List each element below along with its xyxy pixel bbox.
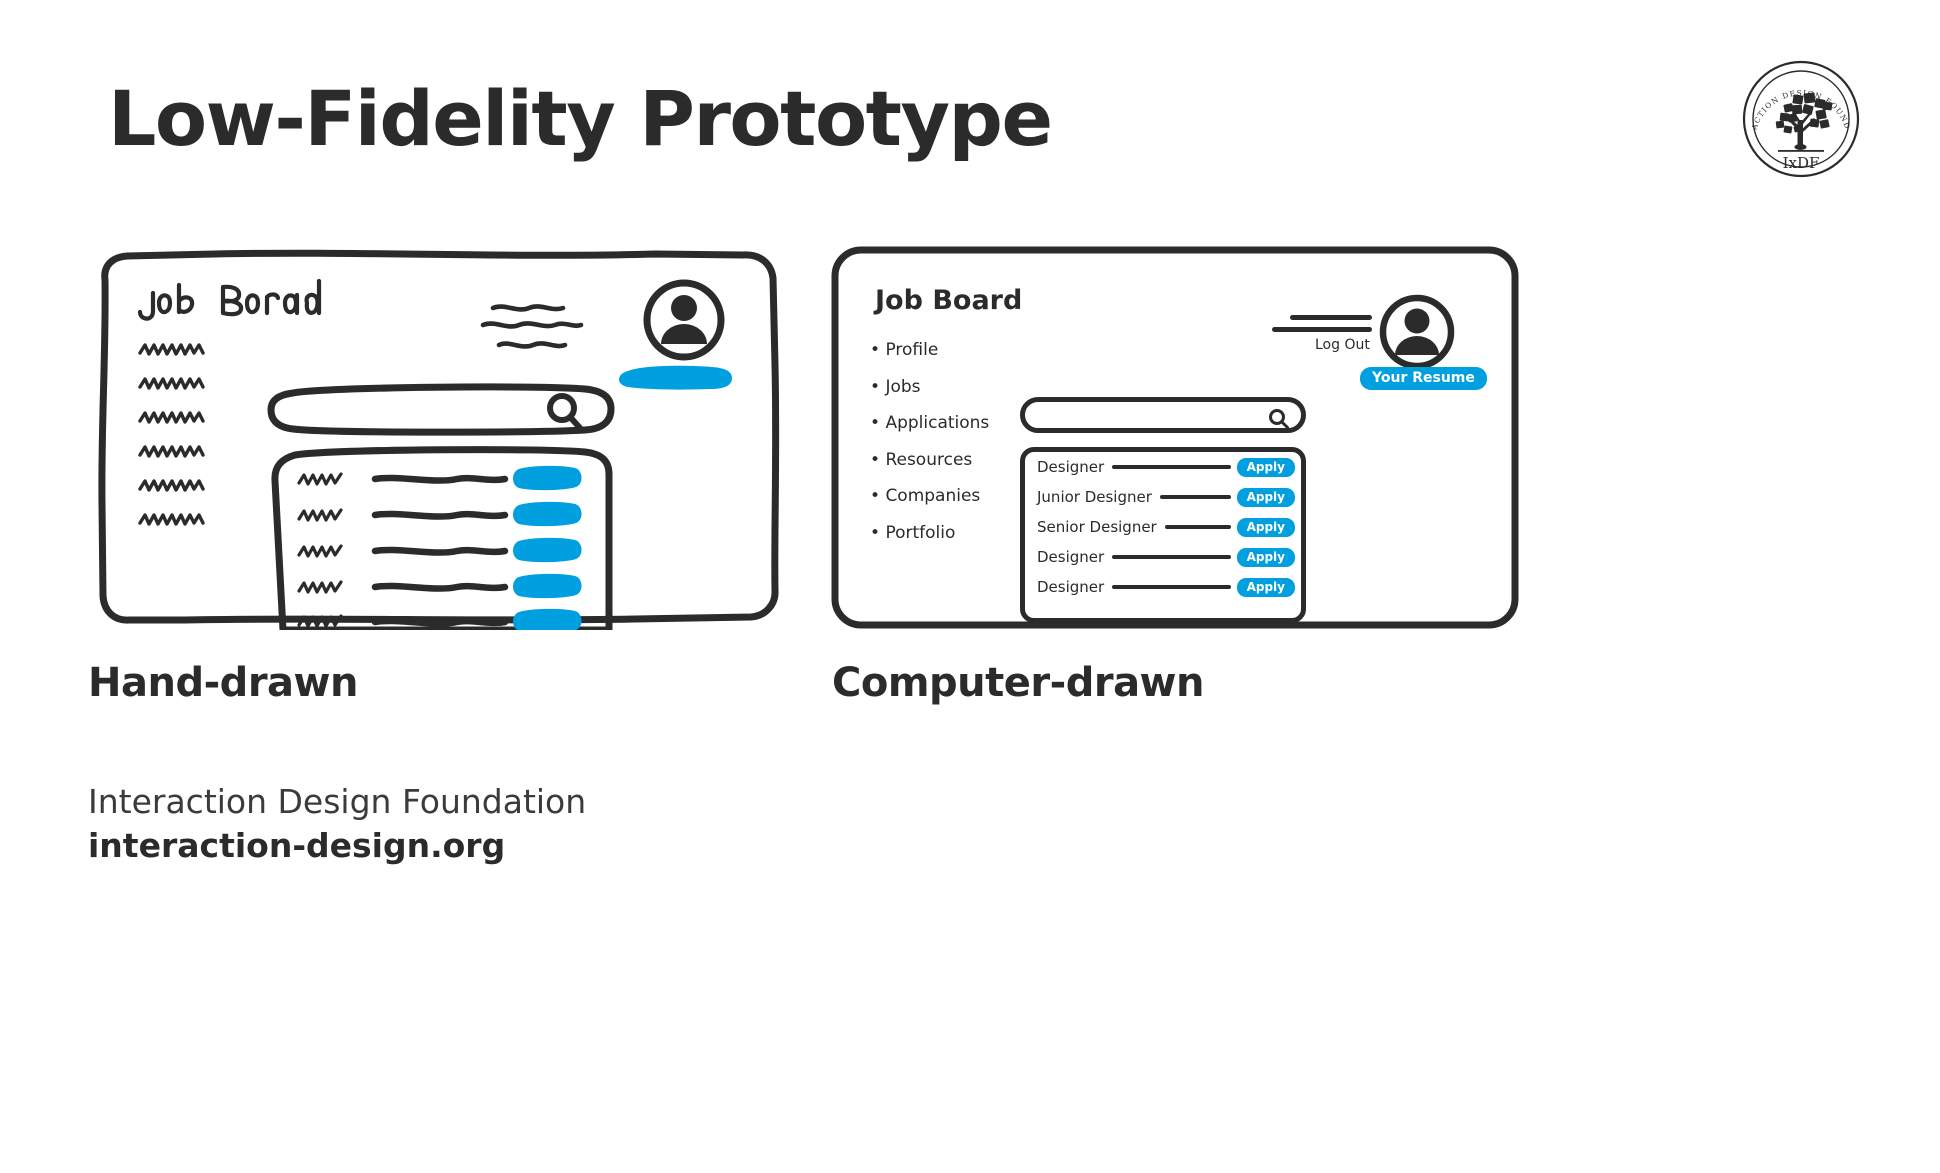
nav-item-profile[interactable]: Profile xyxy=(870,340,1050,360)
search-icon[interactable] xyxy=(1268,408,1290,435)
apply-button[interactable]: Apply xyxy=(1237,458,1295,477)
computer-drawn-prototype: Job Board Profile Jobs Applications Reso… xyxy=(830,245,1520,630)
ixdf-logo: INTERACTION DESIGN FOUNDATION xyxy=(1740,58,1862,180)
apply-button[interactable]: Apply xyxy=(1237,578,1295,597)
apply-button[interactable]: Apply xyxy=(1237,518,1295,537)
hand-search-icon xyxy=(550,396,580,428)
job-title: Designer xyxy=(1037,578,1104,596)
table-row[interactable]: Junior Designer Apply xyxy=(1025,482,1301,512)
tree-icon xyxy=(1776,92,1833,151)
table-row[interactable]: Senior Designer Apply xyxy=(1025,512,1301,542)
hand-apply-buttons xyxy=(513,466,582,630)
footer: Interaction Design Foundation interactio… xyxy=(88,780,586,867)
caption-computer-drawn: Computer-drawn xyxy=(832,660,1204,706)
hand-drawn-prototype xyxy=(95,245,785,630)
hand-nav-scribbles xyxy=(140,345,203,524)
job-meta-bar xyxy=(1160,495,1231,499)
job-title: Designer xyxy=(1037,548,1104,566)
job-meta-bar xyxy=(1112,585,1230,589)
hand-heading-job-board xyxy=(140,281,319,319)
job-title: Junior Designer xyxy=(1037,488,1152,506)
logo-abbr: IxDF xyxy=(1783,154,1820,172)
apply-button[interactable]: Apply xyxy=(1237,488,1295,507)
hand-header-lines xyxy=(483,306,581,346)
table-row[interactable]: Designer Apply xyxy=(1025,452,1301,482)
your-resume-button[interactable]: Your Resume xyxy=(1360,367,1487,390)
job-title: Senior Designer xyxy=(1037,518,1157,536)
comp-search-bar[interactable] xyxy=(1020,397,1306,433)
nav-item-jobs[interactable]: Jobs xyxy=(870,377,1050,397)
page-title: Low-Fidelity Prototype xyxy=(108,74,1052,163)
table-row[interactable]: Designer Apply xyxy=(1025,542,1301,572)
job-meta-bar xyxy=(1112,465,1230,469)
hand-resume-pill xyxy=(619,366,732,390)
footer-url[interactable]: interaction-design.org xyxy=(88,824,586,868)
caption-hand-drawn: Hand-drawn xyxy=(88,660,358,706)
hand-avatar-icon xyxy=(647,283,721,357)
apply-button[interactable]: Apply xyxy=(1237,548,1295,567)
job-title: Designer xyxy=(1037,458,1104,476)
table-row[interactable]: Designer Apply xyxy=(1025,572,1301,602)
job-meta-bar xyxy=(1112,555,1230,559)
hand-list-rows xyxy=(299,466,582,630)
logout-label[interactable]: Log Out xyxy=(1315,337,1370,353)
comp-heading: Job Board xyxy=(875,285,1022,316)
job-meta-bar xyxy=(1165,525,1231,529)
comp-avatar-icon[interactable] xyxy=(1378,293,1456,376)
comp-job-list: Designer Apply Junior Designer Apply Sen… xyxy=(1020,447,1306,623)
footer-organization: Interaction Design Foundation xyxy=(88,780,586,824)
